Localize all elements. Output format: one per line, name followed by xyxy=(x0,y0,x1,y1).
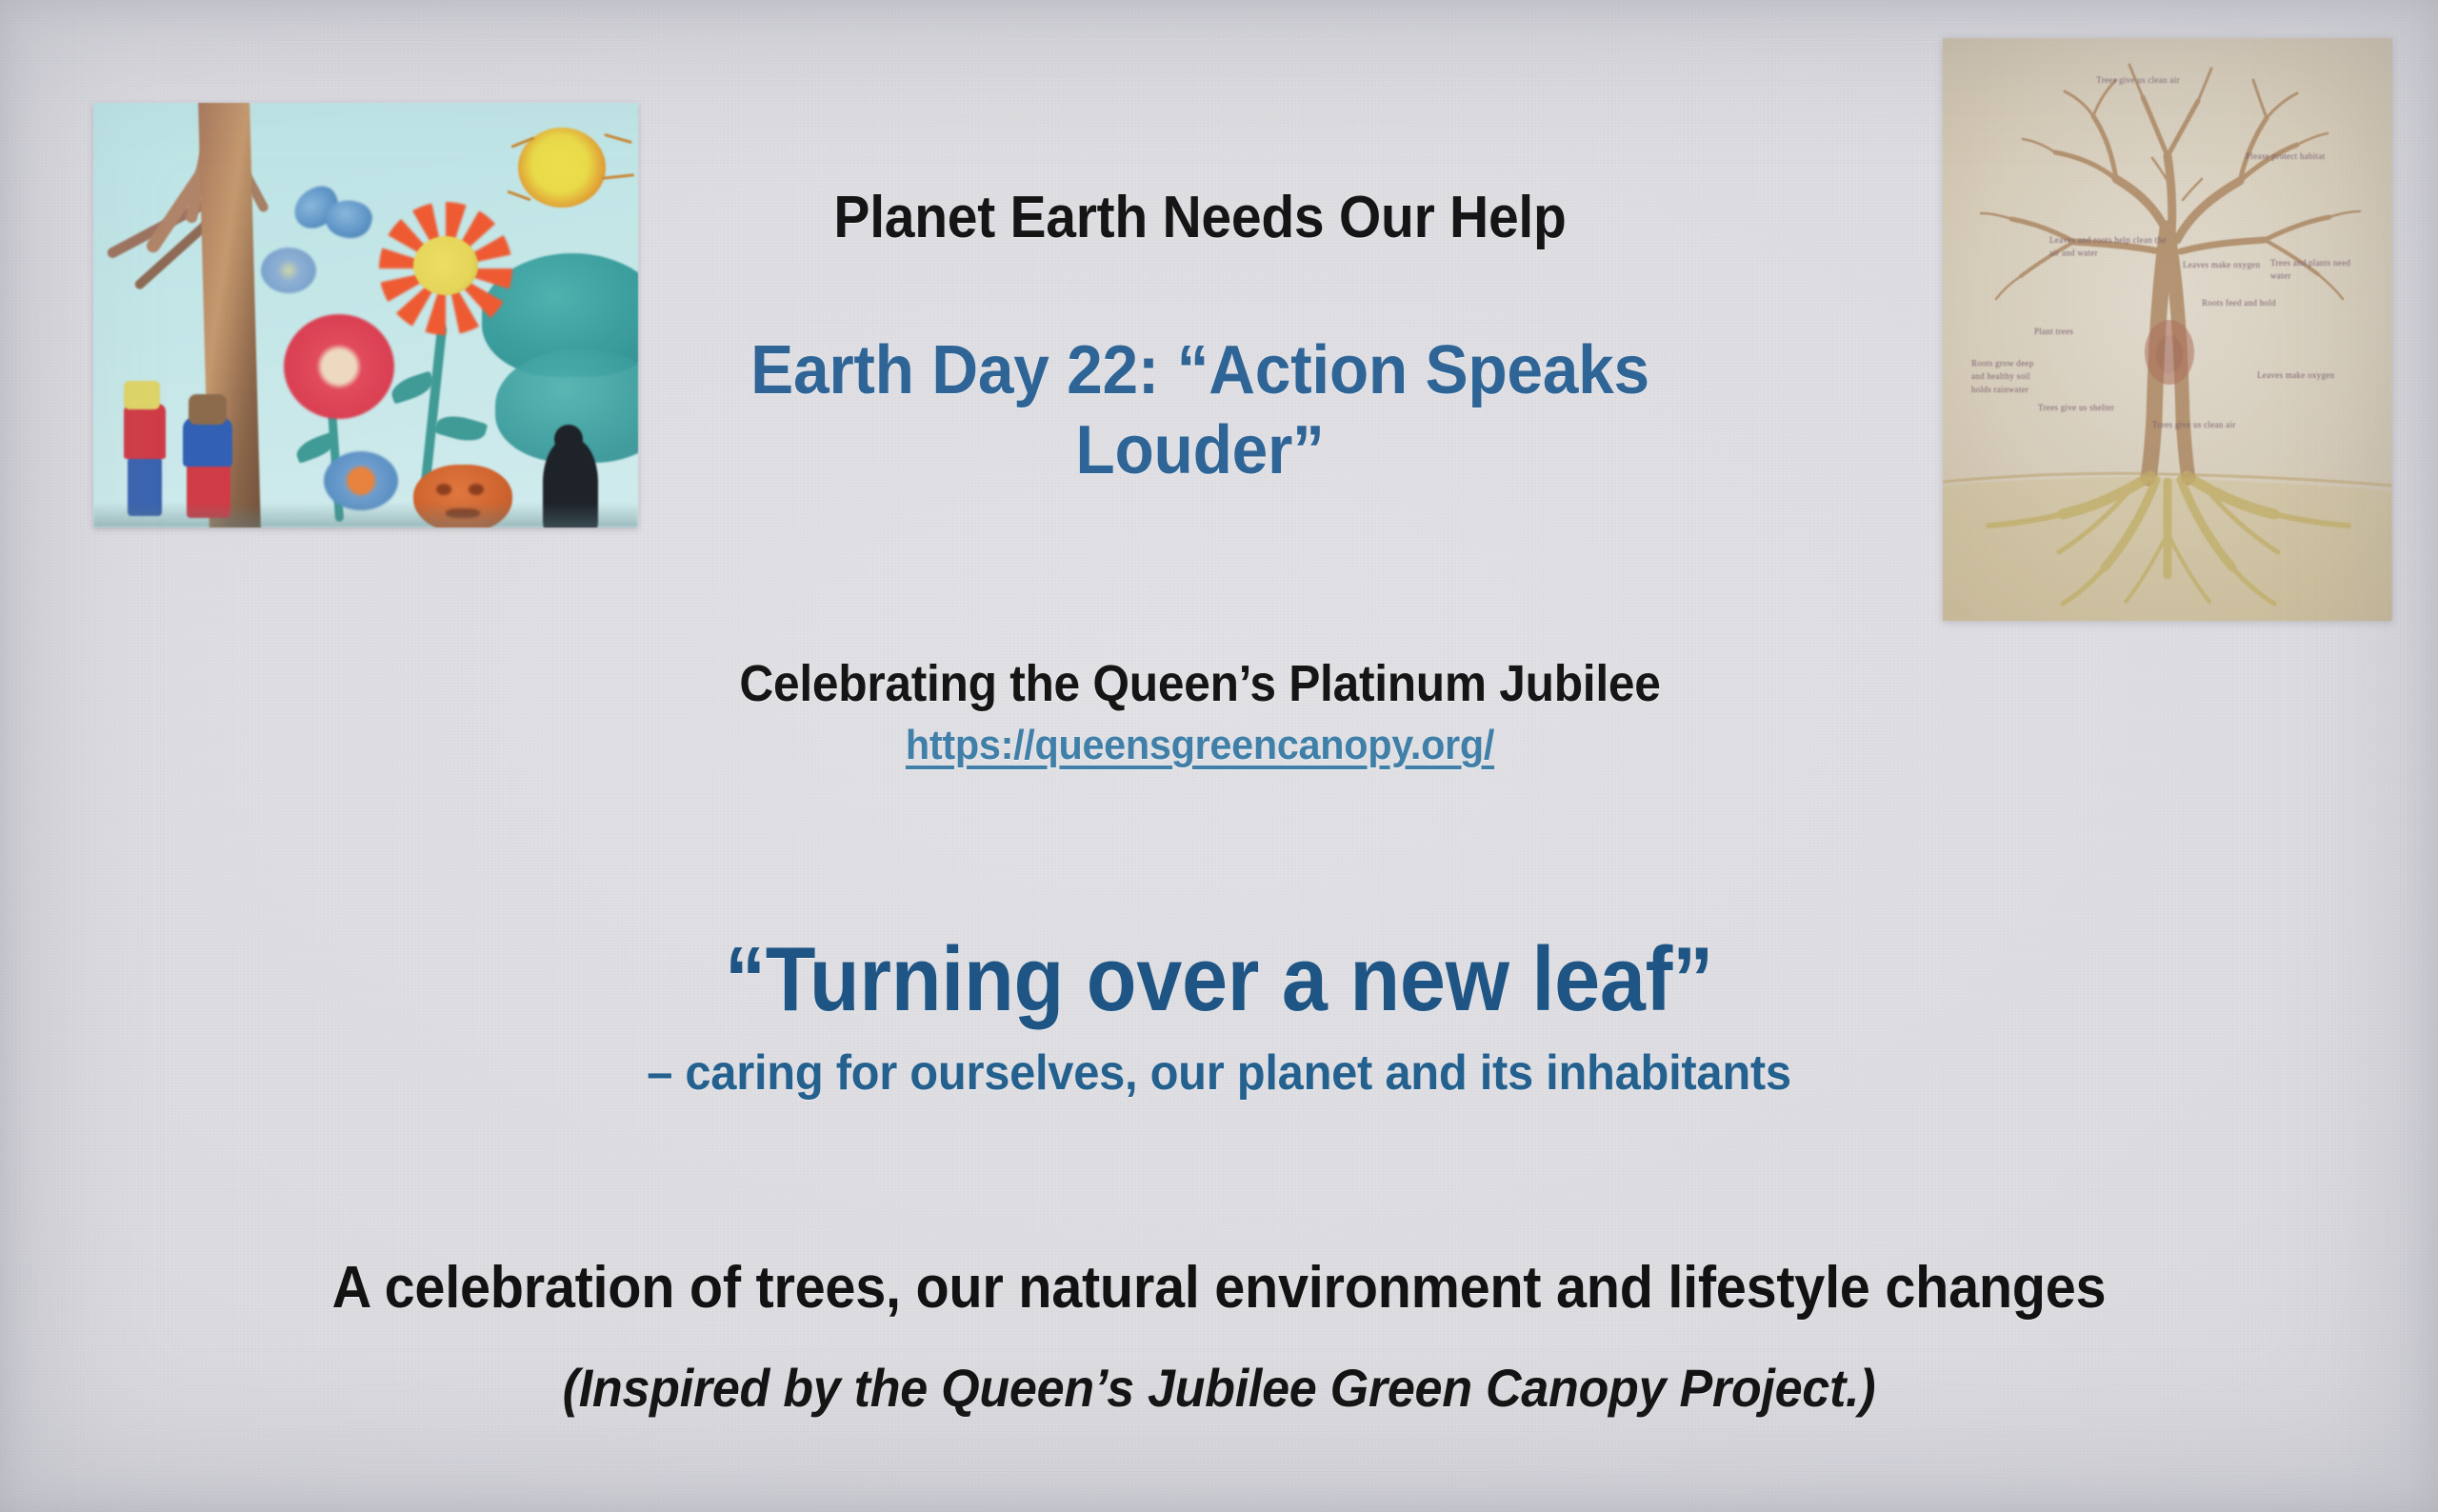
headline-earth-day-22: Earth Day 22: “Action Speaks Louder” xyxy=(645,331,1755,490)
painting-child-left-body xyxy=(124,404,166,459)
painting-red-flower xyxy=(284,314,394,419)
queens-green-canopy-link-wrapper[interactable]: https://queensgreencanopy.org/ xyxy=(573,724,1827,768)
sunflower-centre xyxy=(413,236,478,295)
headline-turning-over-a-new-leaf: “Turning over a new leaf” xyxy=(482,931,1956,1028)
painting-butterfly xyxy=(293,185,375,253)
sketch-grain-overlay xyxy=(1943,38,2392,621)
painting-child-right-head xyxy=(189,394,227,425)
headline-planet-earth-needs-our-help: Planet Earth Needs Our Help xyxy=(657,187,1744,249)
subheading-celebrating-jubilee: Celebrating the Queen’s Platinum Jubilee xyxy=(587,657,1813,711)
line-a-celebration-of-trees: A celebration of trees, our natural envi… xyxy=(121,1257,2317,1320)
painting-blue-flower-lower xyxy=(324,451,398,510)
poster-stage: Trees give us clean air Please protect h… xyxy=(0,0,2438,1512)
tree-of-life-sketch-image: Trees give us clean air Please protect h… xyxy=(1943,38,2392,621)
pumpkin-eye-right xyxy=(469,484,484,495)
subtitle-caring-for-ourselves: – caring for ourselves, our planet and i… xyxy=(413,1047,2025,1100)
painting-blue-flower-upper xyxy=(261,248,316,293)
pumpkin-eye-left xyxy=(436,484,451,495)
earth-day-line-2: Louder” xyxy=(645,411,1755,491)
painting-child-left-head xyxy=(124,381,160,409)
queens-green-canopy-link[interactable]: https://queensgreencanopy.org/ xyxy=(906,722,1494,768)
line-inspired-by-green-canopy-project: (Inspired by the Queen’s Jubilee Green C… xyxy=(227,1360,2210,1416)
earth-day-line-1: Earth Day 22: “Action Speaks xyxy=(645,331,1755,411)
painting-sunflower xyxy=(379,202,512,335)
childrens-painting-image xyxy=(93,103,638,527)
painting-ground xyxy=(93,503,638,527)
